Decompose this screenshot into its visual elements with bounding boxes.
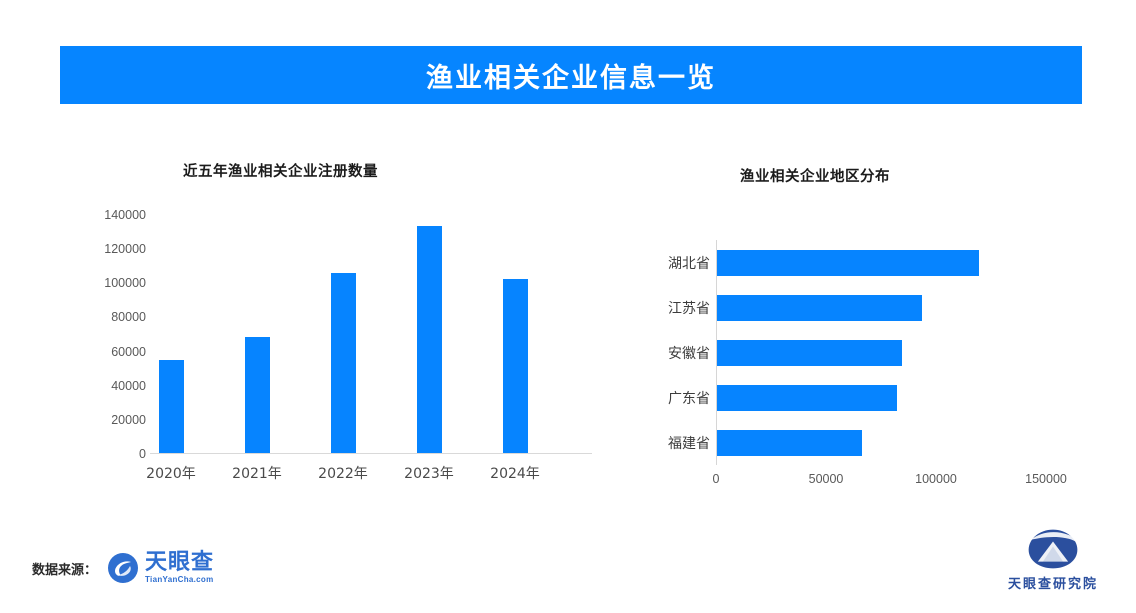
bar-2021年 — [245, 337, 270, 453]
y-tick-label: 20000 — [111, 413, 146, 427]
y-tick-label: 80000 — [111, 310, 146, 324]
horizontal-plot-area — [716, 240, 1046, 465]
y-tick-label: 100000 — [104, 276, 146, 290]
bar-2024年 — [503, 279, 528, 453]
source-label: 数据来源： — [32, 559, 97, 578]
brand-name-en: TianYanCha.com — [145, 576, 214, 584]
left-chart-title: 近五年渔业相关企业注册数量 — [183, 160, 378, 181]
header-banner: 渔业相关企业信息一览 — [60, 46, 1082, 104]
x-tick-label: 2021年 — [232, 463, 282, 483]
brand-name-cn: 天眼查 — [145, 552, 214, 574]
x-tick-label: 100000 — [915, 472, 957, 486]
category-label: 安徽省 — [630, 343, 710, 363]
x-tick-label: 0 — [713, 472, 720, 486]
category-label: 广东省 — [630, 388, 710, 408]
x-axis-line — [150, 453, 592, 454]
category-label: 福建省 — [630, 433, 710, 453]
x-tick-label: 50000 — [809, 472, 844, 486]
tianyancha-eye-icon — [107, 552, 139, 584]
x-tick-label: 2022年 — [318, 463, 368, 483]
region-distribution-bar-chart: 湖北省江苏省安徽省广东省福建省 050000100000150000 — [630, 240, 1050, 505]
tianyancha-logo: 天眼查 TianYanCha.com — [107, 552, 214, 584]
vertical-plot-area — [150, 215, 580, 454]
registrations-bar-chart: 020000400006000080000100000120000140000 … — [60, 215, 580, 500]
x-tick-label: 2023年 — [404, 463, 454, 483]
footer-institute: 天眼查研究院 — [998, 528, 1108, 592]
y-tick-label: 40000 — [111, 379, 146, 393]
y-tick-label: 120000 — [104, 242, 146, 256]
bar-安徽省 — [717, 340, 902, 366]
x-tick-label: 2020年 — [146, 463, 196, 483]
infographic-page: 渔业相关企业信息一览 近五年渔业相关企业注册数量 020000400006000… — [0, 0, 1136, 613]
page-title: 渔业相关企业信息一览 — [426, 56, 716, 95]
x-axis-category-labels: 2020年2021年2022年2023年2024年 — [150, 463, 580, 493]
y-axis-tick-labels: 020000400006000080000100000120000140000 — [60, 215, 146, 455]
category-label: 湖北省 — [630, 253, 710, 273]
category-label: 江苏省 — [630, 298, 710, 318]
bar-福建省 — [717, 430, 862, 456]
y-tick-label: 140000 — [104, 208, 146, 222]
research-institute-icon — [1026, 528, 1080, 570]
y-tick-label: 0 — [139, 447, 146, 461]
x-axis-tick-labels: 050000100000150000 — [716, 472, 1056, 496]
bar-江苏省 — [717, 295, 922, 321]
right-chart-title: 渔业相关企业地区分布 — [740, 165, 890, 186]
institute-name: 天眼查研究院 — [1008, 573, 1098, 592]
bar-广东省 — [717, 385, 897, 411]
bar-2020年 — [159, 360, 184, 453]
footer-source: 数据来源： 天眼查 TianYanCha.com — [32, 548, 214, 588]
tianyancha-wordmark: 天眼查 TianYanCha.com — [145, 552, 214, 584]
x-tick-label: 150000 — [1025, 472, 1067, 486]
x-tick-label: 2024年 — [490, 463, 540, 483]
y-tick-label: 60000 — [111, 345, 146, 359]
bar-2022年 — [331, 273, 356, 453]
bar-湖北省 — [717, 250, 979, 276]
bar-2023年 — [417, 226, 442, 453]
